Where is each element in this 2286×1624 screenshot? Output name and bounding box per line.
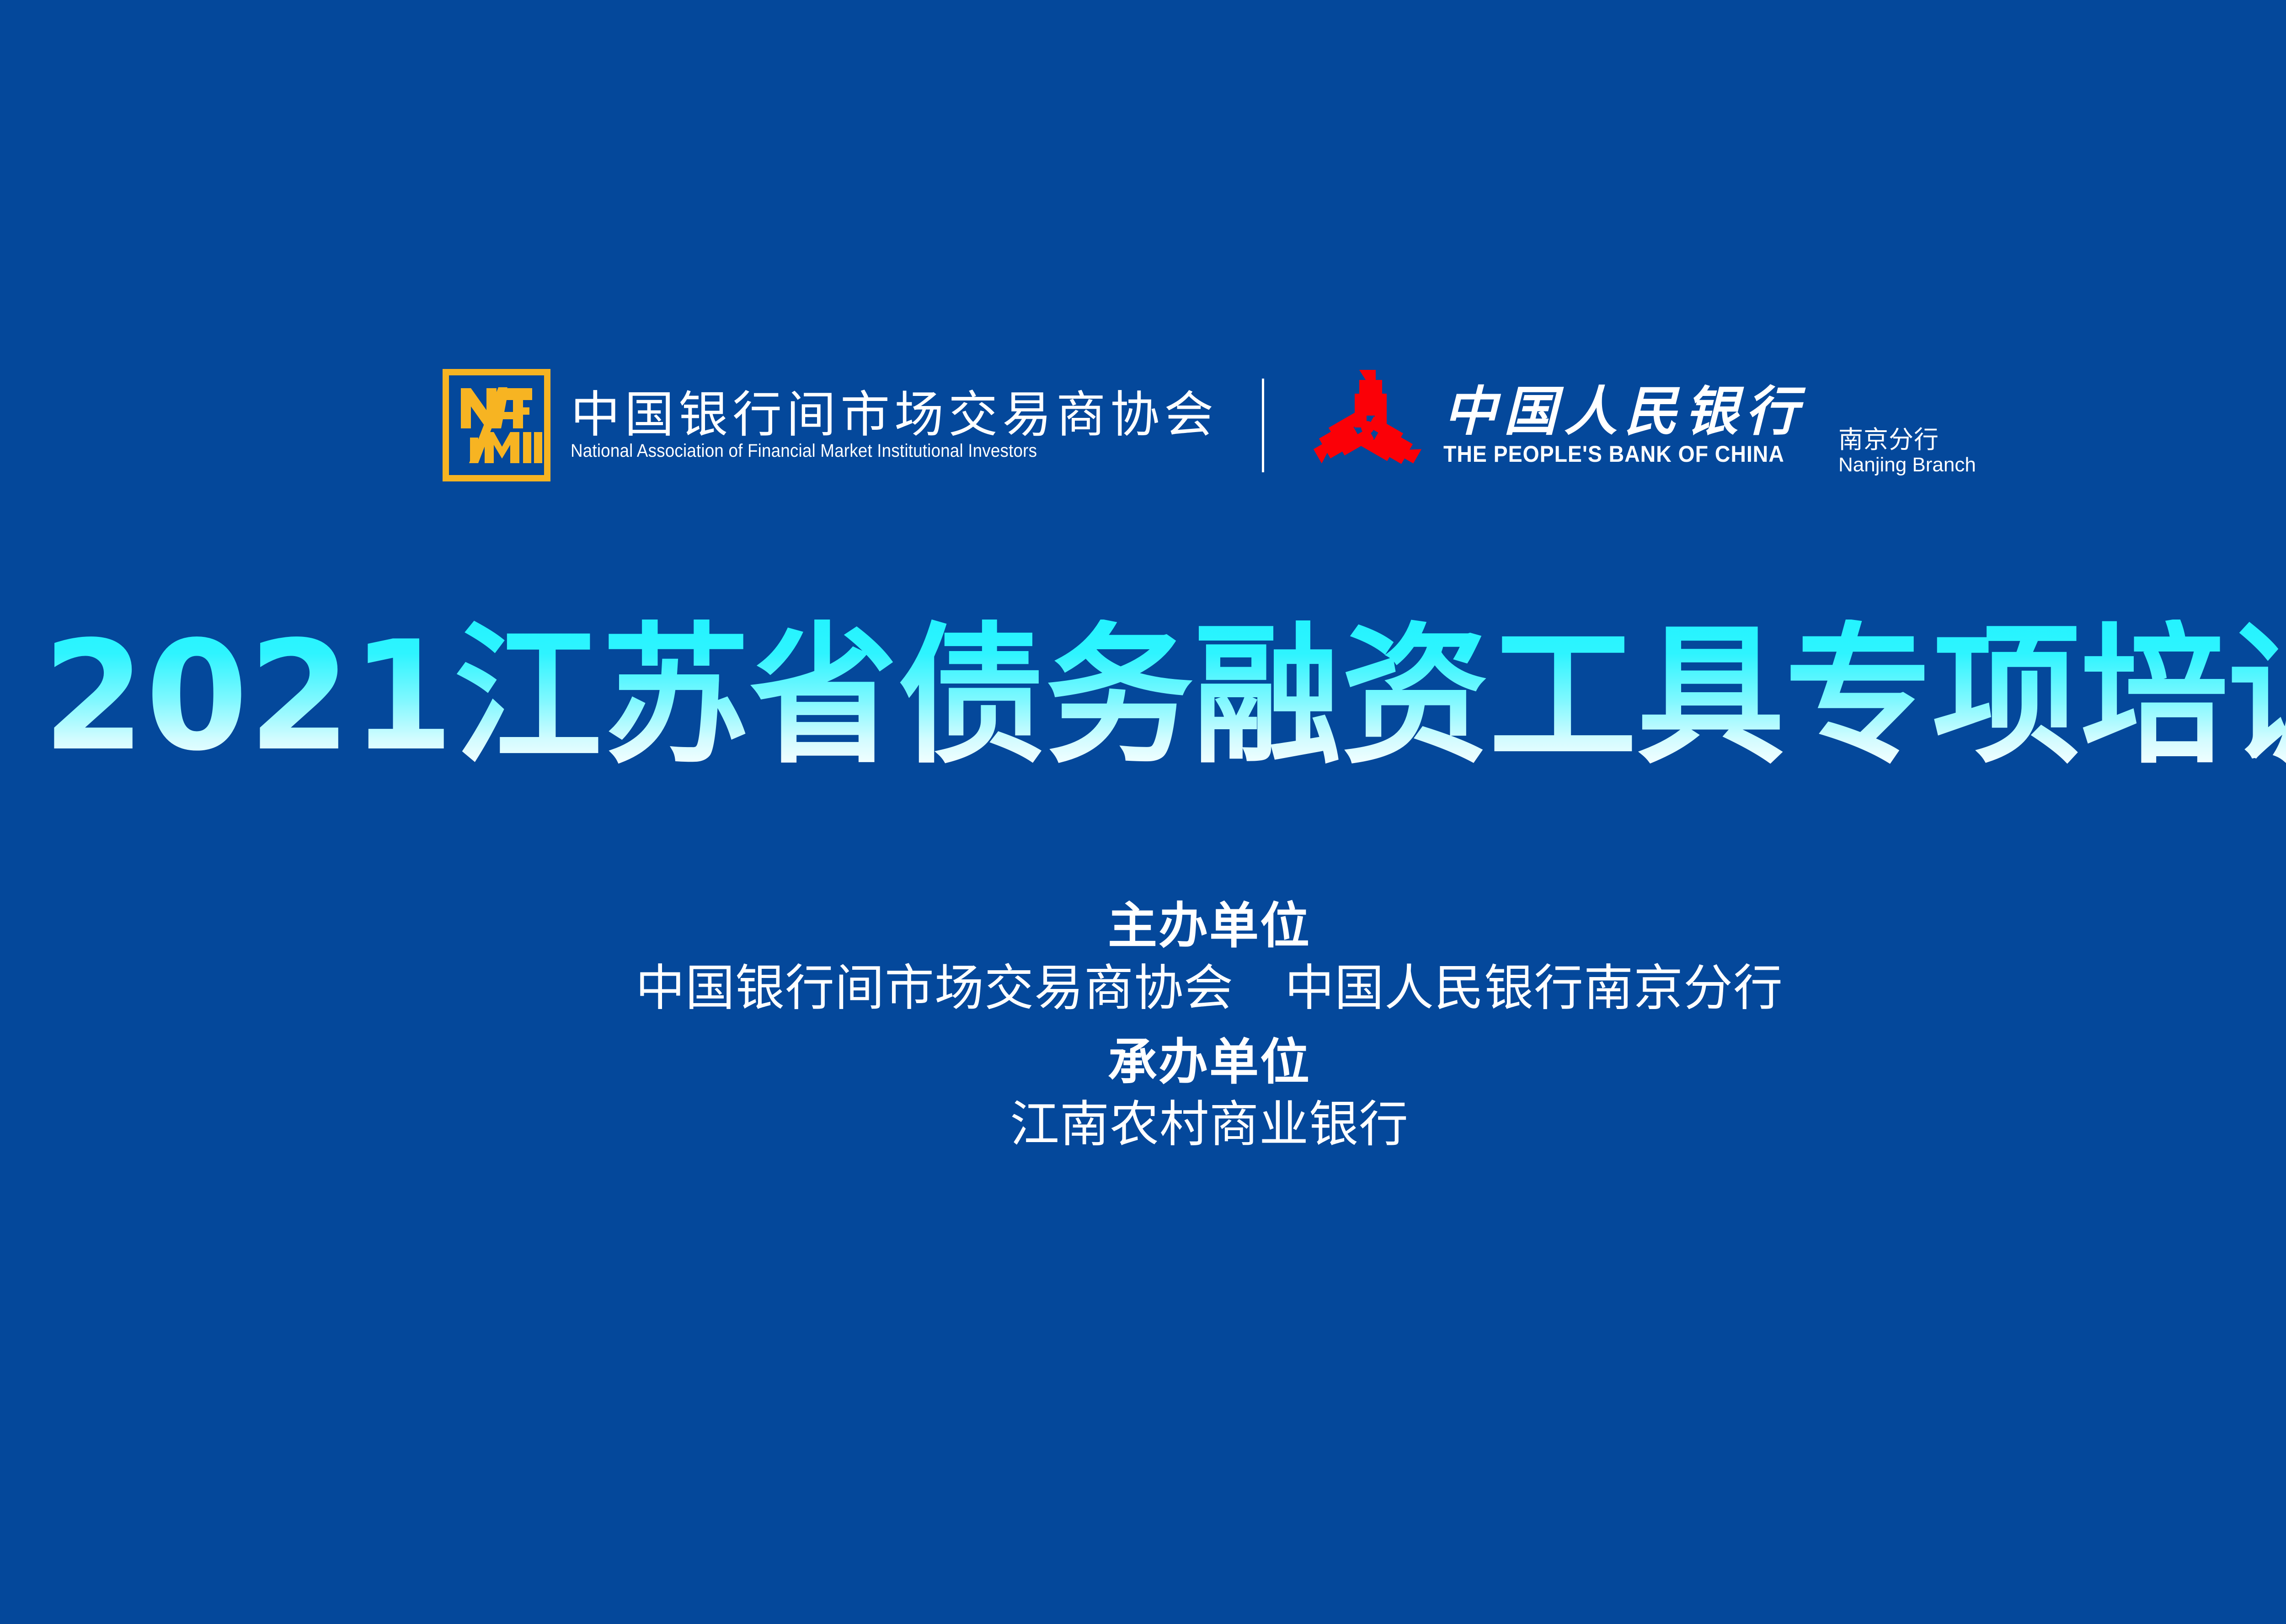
pboc-branch-cn: 南京分行 — [1838, 427, 1976, 452]
logo-divider — [1262, 379, 1264, 472]
nafmii-logo: 中国银行间市场交易商协会 National Association of Fin… — [443, 369, 1218, 481]
pboc-logo: 中国人民银行 THE PEOPLE'S BANK OF CHINA 南京分行 N… — [1308, 365, 1976, 485]
pboc-emblem-icon — [1308, 365, 1427, 485]
organizer-label: 承办单位 — [0, 1032, 2286, 1093]
host-label: 主办单位 — [0, 896, 2286, 956]
pboc-name-cn: 中国人民银行 — [1443, 385, 1810, 438]
nafmii-wordmark: 中国银行间市场交易商协会 National Association of Fin… — [571, 390, 1218, 460]
logo-bar: 中国银行间市场交易商协会 National Association of Fin… — [0, 352, 2286, 498]
nafmii-mark-icon — [443, 369, 550, 481]
pboc-wordmark: 中国人民银行 THE PEOPLE'S BANK OF CHINA — [1443, 385, 1810, 465]
organizer-orgs: 江南农村商业银行 — [0, 1093, 2286, 1157]
host-orgs: 中国银行间市场交易商协会中国人民银行南京分行 — [0, 956, 2286, 1020]
pboc-name-en: THE PEOPLE'S BANK OF CHINA — [1443, 443, 1784, 465]
pboc-branch: 南京分行 Nanjing Branch — [1838, 427, 1976, 485]
host-org-1: 中国银行间市场交易商协会 — [636, 960, 1234, 1017]
page-title: 2021江苏省债务融资工具专项培训 — [24, 620, 2286, 774]
organizer-org-1: 江南农村商业银行 — [1010, 1096, 1409, 1153]
host-org-2: 中国人民银行南京分行 — [1285, 960, 1783, 1017]
credits-block: 主办单位 中国银行间市场交易商协会中国人民银行南京分行 承办单位 江南农村商业银… — [0, 896, 2286, 1157]
pboc-branch-en: Nanjing Branch — [1838, 455, 1976, 475]
nafmii-name-en: National Association of Financial Market… — [571, 442, 1166, 460]
credits-spacer — [0, 1020, 2286, 1032]
nafmii-name-cn: 中国银行间市场交易商协会 — [571, 390, 1218, 440]
